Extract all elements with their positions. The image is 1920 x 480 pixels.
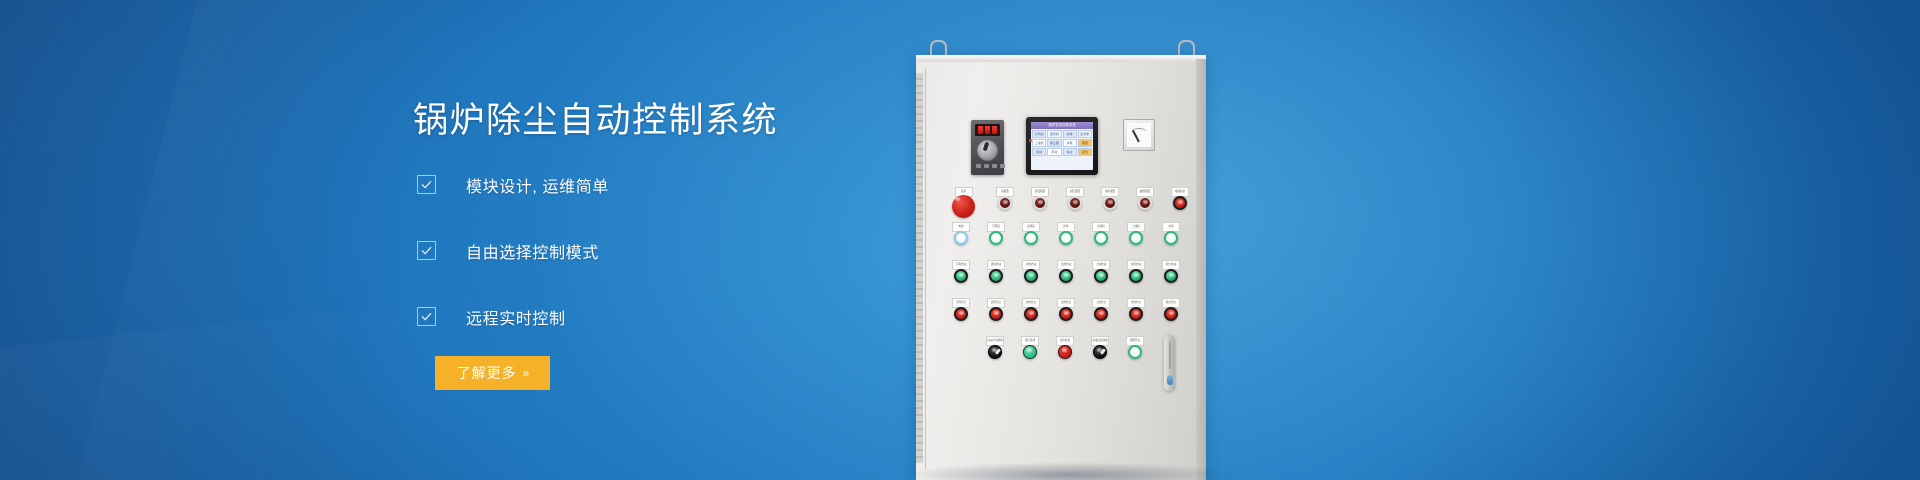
stop-button[interactable]: 引风停止 xyxy=(952,298,970,321)
hmi-touch-screen[interactable]: 锅炉自动控制系统 引风机 送风机 炉排 出渣机 上煤机 除尘器 水泵 报警 xyxy=(1026,117,1098,175)
cabinet-top-cap xyxy=(916,55,1206,62)
gauge-face xyxy=(1127,123,1151,147)
stop-button[interactable]: 上煤停止 xyxy=(1092,298,1110,321)
stop-button[interactable]: 出渣停止 xyxy=(1057,298,1075,321)
stop-button[interactable]: 水泵停止 xyxy=(1127,298,1145,321)
learn-more-label: 了解更多 xyxy=(457,363,517,383)
selector-knob-black-icon[interactable] xyxy=(1093,345,1107,359)
lamp-green-icon[interactable] xyxy=(989,269,1003,283)
hero-banner: 锅炉除尘自动控制系统 模块设计, 运维简单 自由选择控制模式 xyxy=(0,0,1920,480)
selector-switch-row: 自动手动转换 运行选择 急停复位 就地远程转换 照明开关 xyxy=(986,336,1144,359)
lamp-dark-red-icon[interactable] xyxy=(1138,196,1152,210)
vfd-button[interactable] xyxy=(984,164,989,168)
lamp-green-ring-icon[interactable] xyxy=(1129,231,1143,245)
lamp-green-icon[interactable] xyxy=(954,269,968,283)
selector-knob-green-icon[interactable] xyxy=(1023,345,1037,359)
alarm-lamp[interactable]: 超压报警 xyxy=(1066,187,1084,218)
hmi-cell[interactable]: 送风机 xyxy=(1047,130,1061,138)
hmi-cell[interactable]: 上煤机 xyxy=(1032,139,1046,147)
hmi-cell[interactable]: 自动 xyxy=(1032,148,1046,156)
lamp-dark-red-icon[interactable] xyxy=(1103,196,1117,210)
lamp-green-icon[interactable] xyxy=(1094,269,1108,283)
hmi-row: 自动 手动 停止 复位 xyxy=(1031,147,1093,156)
indicator-lamp[interactable]: 引风机 xyxy=(987,222,1005,245)
selector-switch[interactable]: 急停复位 xyxy=(1056,336,1074,359)
hmi-cell[interactable]: 手动 xyxy=(1047,148,1061,156)
start-button[interactable]: 上煤启动 xyxy=(1092,260,1110,283)
vfd-digit xyxy=(992,126,997,134)
selector-switch[interactable]: 就地远程转换 xyxy=(1091,336,1109,359)
lamp-red-icon[interactable] xyxy=(1024,307,1038,321)
hmi-title-bar: 锅炉自动控制系统 xyxy=(1031,122,1093,129)
vfd-display xyxy=(975,124,1000,136)
selector-switch[interactable]: 自动手动转换 xyxy=(986,336,1004,359)
selector-knob-black-icon[interactable] xyxy=(988,345,1002,359)
lamp-red-icon[interactable] xyxy=(1173,196,1187,210)
lamp-green-icon[interactable] xyxy=(1059,269,1073,283)
chevron-right-icon: » xyxy=(523,366,529,380)
alarm-lamp[interactable]: 缺水报警 xyxy=(1101,187,1119,218)
green-start-row: 引风启动 送风启动 炉排启动 出渣启动 上煤启动 xyxy=(952,260,1180,283)
hmi-power-led-icon xyxy=(1029,139,1032,142)
frequency-converter xyxy=(971,120,1004,175)
alarm-lamp[interactable]: 故障报警 xyxy=(1136,187,1154,218)
lamp-green-ring-icon[interactable] xyxy=(1059,231,1073,245)
lamp-red-icon[interactable] xyxy=(989,307,1003,321)
lamp-green-icon[interactable] xyxy=(1164,269,1178,283)
emergency-and-alarm-row: 急停 总报警 超温报警 超压报警 缺水报警 xyxy=(952,187,1189,218)
checkbox-check-icon xyxy=(417,307,436,326)
stop-button[interactable]: 除尘停止 xyxy=(1162,298,1180,321)
lamp-dark-red-icon[interactable] xyxy=(998,196,1012,210)
vfd-digits xyxy=(975,124,1000,134)
hmi-row: 引风机 送风机 炉排 出渣机 xyxy=(1031,129,1093,138)
red-stop-row: 引风停止 送风停止 炉排停止 出渣停止 上煤停止 xyxy=(952,298,1180,321)
handle-lock-icon[interactable] xyxy=(1167,375,1173,385)
start-button[interactable]: 送风启动 xyxy=(987,260,1005,283)
selector-switch[interactable]: 运行选择 xyxy=(1021,336,1039,359)
learn-more-button[interactable]: 了解更多 » xyxy=(435,356,550,390)
lamp-green-icon[interactable] xyxy=(1129,269,1143,283)
lamp-green-ring-icon[interactable] xyxy=(1024,231,1038,245)
checkbox-check-icon xyxy=(417,241,436,260)
stop-button[interactable]: 炉排停止 xyxy=(1022,298,1040,321)
start-button[interactable]: 除尘启动 xyxy=(1162,260,1180,283)
lamp-green-ring-icon[interactable] xyxy=(1094,231,1108,245)
hmi-cell[interactable]: 出渣机 xyxy=(1078,130,1092,138)
product-photo-control-cabinet: 锅炉自动控制系统 引风机 送风机 炉排 出渣机 上煤机 除尘器 水泵 报警 xyxy=(908,40,1228,480)
start-button[interactable]: 引风启动 xyxy=(952,260,970,283)
indicator-lamp[interactable]: 水泵 xyxy=(1162,222,1180,245)
vfd-button[interactable] xyxy=(1000,164,1005,168)
power-lamp[interactable]: 电源指示 xyxy=(1171,187,1189,218)
vfd-digit xyxy=(985,126,990,134)
hmi-cell[interactable]: 复位 xyxy=(1078,148,1092,156)
vfd-button[interactable] xyxy=(976,164,981,168)
lamp-green-ring-icon[interactable] xyxy=(1164,231,1178,245)
lamp-green-icon[interactable] xyxy=(1024,269,1038,283)
checkbox-check-icon xyxy=(417,175,436,194)
lamp-green-ring-icon[interactable] xyxy=(989,231,1003,245)
hmi-cell[interactable]: 水泵 xyxy=(1063,139,1077,147)
vfd-button-group[interactable] xyxy=(976,164,1005,168)
hmi-title-text: 锅炉自动控制系统 xyxy=(1048,123,1075,128)
hmi-row: 上煤机 除尘器 水泵 报警 xyxy=(1031,138,1093,147)
cabinet-floor-shadow xyxy=(900,462,1240,480)
selector-switch[interactable]: 照明开关 xyxy=(1126,336,1144,359)
cabinet-hinge-strip xyxy=(916,73,923,463)
cabinet-door-handle[interactable] xyxy=(1164,335,1175,391)
cabinet-body: 锅炉自动控制系统 引风机 送风机 炉排 出渣机 上煤机 除尘器 水泵 报警 xyxy=(916,55,1206,480)
handle-grip-slot xyxy=(1169,341,1171,369)
lamp-red-icon[interactable] xyxy=(1059,307,1073,321)
vfd-button[interactable] xyxy=(992,164,997,168)
white-indicator-row: 电源 引风机 送风机 炉排 出渣机 xyxy=(952,222,1180,245)
alarm-lamp[interactable]: 超温报警 xyxy=(1031,187,1049,218)
lamp-white-icon[interactable] xyxy=(954,231,968,245)
selector-knob-red-icon[interactable] xyxy=(1058,345,1072,359)
lamp-dark-red-icon[interactable] xyxy=(1033,196,1047,210)
hmi-cell[interactable]: 报警 xyxy=(1078,139,1092,147)
lamp-red-icon[interactable] xyxy=(1094,307,1108,321)
cabinet-side-panel xyxy=(1196,59,1206,480)
alarm-lamp[interactable]: 总报警 xyxy=(996,187,1014,218)
lamp-red-icon[interactable] xyxy=(1129,307,1143,321)
start-button[interactable]: 出渣启动 xyxy=(1057,260,1075,283)
feature-label: 模块设计, 运维简单 xyxy=(466,173,609,197)
hmi-cell[interactable]: 停止 xyxy=(1063,148,1077,156)
vfd-rotary-dial[interactable] xyxy=(977,140,998,161)
indicator-lamp[interactable]: 炉排 xyxy=(1057,222,1075,245)
lamp-red-icon[interactable] xyxy=(1164,307,1178,321)
start-button[interactable]: 炉排启动 xyxy=(1022,260,1040,283)
selector-knob-white-icon[interactable] xyxy=(1128,345,1142,359)
stop-button[interactable]: 送风停止 xyxy=(987,298,1005,321)
start-button[interactable]: 水泵启动 xyxy=(1127,260,1145,283)
lamp-red-icon[interactable] xyxy=(954,307,968,321)
hmi-cell[interactable]: 炉排 xyxy=(1063,130,1077,138)
hmi-screen-surface[interactable]: 锅炉自动控制系统 引风机 送风机 炉排 出渣机 上煤机 除尘器 水泵 报警 xyxy=(1031,122,1093,170)
indicator-lamp[interactable]: 送风机 xyxy=(1022,222,1040,245)
indicator-lamp[interactable]: 电源 xyxy=(952,222,970,245)
analog-pressure-gauge xyxy=(1123,119,1155,151)
lamp-estop-icon[interactable] xyxy=(952,195,975,218)
hmi-cell[interactable]: 引风机 xyxy=(1032,130,1046,138)
feature-label: 自由选择控制模式 xyxy=(466,239,599,263)
lamp-dark-red-icon[interactable] xyxy=(1068,196,1082,210)
vfd-digit xyxy=(978,126,983,134)
cabinet-door-seam xyxy=(925,69,926,469)
hmi-cell[interactable]: 除尘器 xyxy=(1047,139,1061,147)
estop-button[interactable]: 急停 xyxy=(952,187,975,218)
feature-label: 远程实时控制 xyxy=(466,305,566,329)
indicator-lamp[interactable]: 上煤机 xyxy=(1127,222,1145,245)
indicator-lamp[interactable]: 出渣机 xyxy=(1092,222,1110,245)
